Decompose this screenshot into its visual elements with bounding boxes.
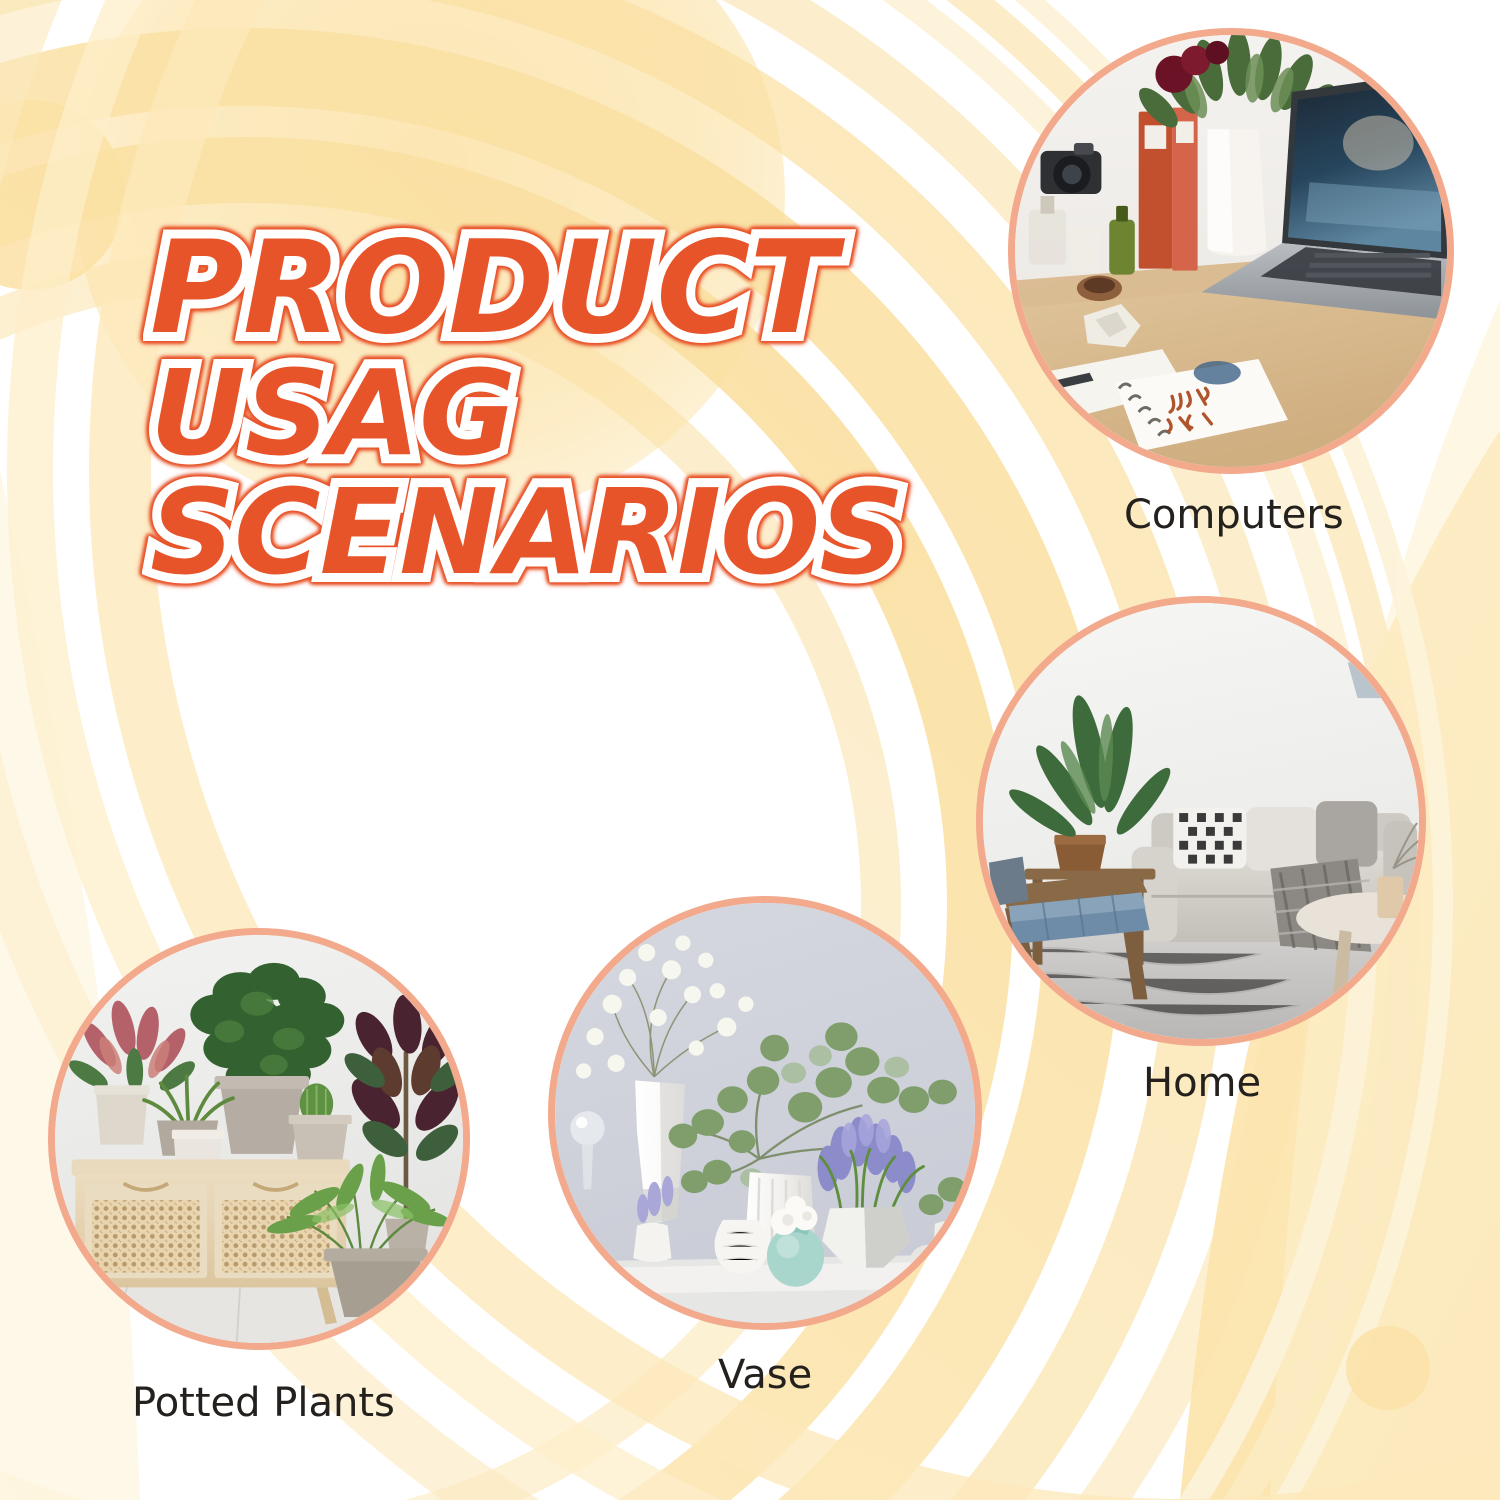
caption-vase: Vase <box>718 1352 812 1398</box>
title-line-1: PRODUCT <box>150 228 940 351</box>
page-title: PRODUCT USAG SCENARIOS <box>150 228 940 589</box>
photo-home-livingroom <box>983 603 1419 1039</box>
photo-potted-plants-cabinet <box>55 935 463 1343</box>
caption-computers: Computers <box>1124 492 1344 538</box>
photo-vase-collection <box>555 903 975 1323</box>
caption-potted-plants: Potted Plants <box>132 1380 395 1426</box>
title-line-2: USAG <box>150 357 940 470</box>
photo-circle-computers[interactable] <box>1008 28 1454 474</box>
photo-circle-potted-plants[interactable] <box>48 928 470 1350</box>
photo-computers-desk <box>1015 35 1447 467</box>
poster-canvas: PRODUCT USAG SCENARIOS <box>0 0 1500 1500</box>
title-line-3: SCENARIOS <box>150 476 940 589</box>
photo-circle-vase[interactable] <box>548 896 982 1330</box>
caption-home: Home <box>1143 1060 1261 1106</box>
photo-circle-home[interactable] <box>976 596 1426 1046</box>
